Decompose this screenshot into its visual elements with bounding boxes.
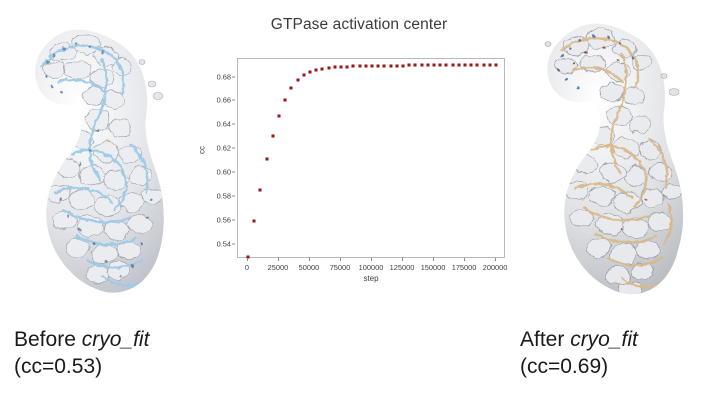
plot-area: cc 0.540.560.580.600.620.640.660.68 0250… [205,50,513,293]
y-tick-mark [232,100,235,101]
data-point [277,114,280,117]
data-point [433,64,436,67]
data-point [259,188,262,191]
caption-after-cc: (cc=0.69) [520,353,638,380]
data-point [352,65,355,68]
data-point [408,64,411,67]
data-point [302,74,305,77]
plot-frame [237,58,505,258]
y-tick-label: 0.62 [217,144,231,153]
data-point [476,64,479,67]
caption-before-cc: (cc=0.53) [14,353,149,380]
y-tick-label: 0.58 [217,191,231,200]
caption-before-prefix: Before [14,328,82,351]
caption-before: Before cryo_fit (cc=0.53) [14,326,149,381]
data-point [346,65,349,68]
data-point [420,64,423,67]
y-tick-label: 0.64 [217,120,231,129]
x-tick-mark [495,258,496,261]
caption-after: After cryo_fit (cc=0.69) [520,326,638,381]
data-point [426,64,429,67]
data-point [265,157,268,160]
molecule-image-after [518,4,718,316]
y-tick-mark [232,148,235,149]
molecule-image-before [2,4,202,316]
y-tick-mark [232,195,235,196]
figure-canvas: GTPase activation center cc 0.540.560.58… [0,0,720,409]
data-point [364,65,367,68]
data-point [457,64,460,67]
data-point [402,64,405,67]
data-point [371,64,374,67]
data-point [377,64,380,67]
data-point [290,87,293,90]
data-point [414,64,417,67]
data-point [271,135,274,138]
data-point [395,64,398,67]
x-tick-label: 150000 [421,263,446,272]
y-tick-mark [232,243,235,244]
x-tick-label: 175000 [452,263,477,272]
y-tick-mark [232,76,235,77]
data-point [445,64,448,67]
data-point [327,67,330,70]
data-point [333,66,336,69]
y-tick-mark [232,172,235,173]
data-point [308,71,311,74]
data-point [495,63,498,66]
caption-after-italic: cryo_fit [570,328,638,351]
x-tick-label: 75000 [330,263,351,272]
data-point [383,64,386,67]
data-point [389,64,392,67]
x-tick-mark [309,258,310,261]
caption-before-italic: cryo_fit [82,328,150,351]
y-tick-label: 0.60 [217,168,231,177]
x-tick-mark [433,258,434,261]
x-axis-title: step [237,274,505,283]
caption-after-prefix: After [520,328,570,351]
y-tick-mark [232,219,235,220]
data-point [321,67,324,70]
scatter-points [238,59,504,257]
data-point [439,64,442,67]
data-point [482,64,485,67]
data-point [339,66,342,69]
x-tick-label: 125000 [390,263,415,272]
data-point [451,64,454,67]
data-point [358,65,361,68]
x-tick-mark [247,258,248,261]
x-tick-mark [371,258,372,261]
data-point [488,64,491,67]
data-point [470,64,473,67]
y-tick-mark [232,124,235,125]
data-point [253,219,256,222]
x-tick-mark [340,258,341,261]
y-tick-label: 0.66 [217,96,231,105]
y-tick-label: 0.54 [217,239,231,248]
chart-title: GTPase activation center [205,16,513,34]
data-point [284,99,287,102]
x-tick-label: 25000 [268,263,289,272]
data-point [464,64,467,67]
cc-vs-step-chart: GTPase activation center cc 0.540.560.58… [205,8,513,293]
y-tick-label: 0.56 [217,215,231,224]
x-tick-mark [278,258,279,261]
x-tick-label: 100000 [359,263,384,272]
x-tick-mark [402,258,403,261]
data-point [315,69,318,72]
y-axis-ticks: 0.540.560.580.600.620.640.660.68 [205,58,235,258]
x-tick-label: 50000 [299,263,320,272]
x-tick-mark [464,258,465,261]
x-tick-label: 200000 [483,263,508,272]
data-point [296,78,299,81]
x-tick-label: 0 [245,263,249,272]
y-tick-label: 0.68 [217,72,231,81]
